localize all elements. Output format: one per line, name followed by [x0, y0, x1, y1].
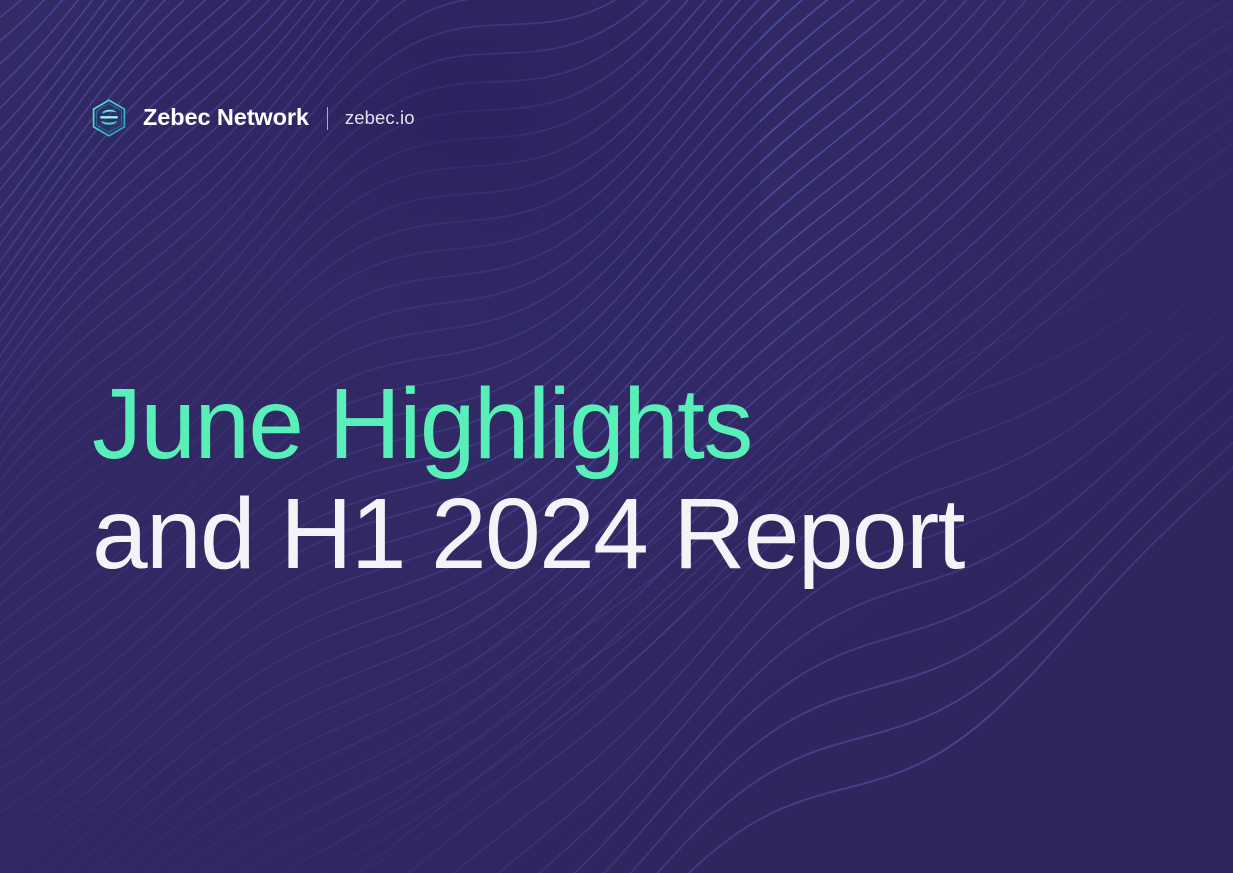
cover-headline: June Highlights and H1 2024 Report [92, 368, 1092, 590]
headline-line-primary: June Highlights [92, 368, 1092, 480]
brand-name-label: Zebec Network [143, 106, 309, 130]
brand-logo-lockup[interactable]: Zebec Network zebec.io [88, 97, 415, 139]
headline-line-secondary: and H1 2024 Report [92, 478, 1092, 590]
brand-divider [327, 107, 328, 130]
brand-website-label: zebec.io [345, 109, 415, 128]
zebec-hexagon-logo-icon [88, 97, 130, 139]
report-cover-slide: Zebec Network zebec.io June Highlights a… [0, 0, 1233, 873]
